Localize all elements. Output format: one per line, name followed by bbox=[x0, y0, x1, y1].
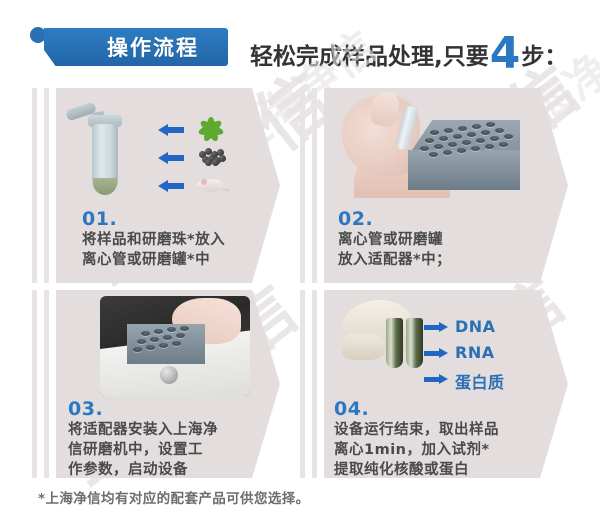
panel-bar bbox=[32, 88, 37, 283]
output-label-dna: DNA bbox=[455, 317, 496, 336]
arrow-right-icon bbox=[424, 322, 448, 332]
ribbon-label: 操作流程 bbox=[78, 28, 228, 66]
step-panel-1[interactable]: 01. 将样品和研磨珠*放入 离心管或研磨罐*中 bbox=[32, 88, 280, 283]
step-panel-2[interactable]: 02. 离心管或研磨罐 放入适配器*中； bbox=[300, 88, 568, 283]
panel-bar bbox=[32, 290, 37, 478]
steps-grid: 01. 将样品和研磨珠*放入 离心管或研磨罐*中 bbox=[0, 88, 600, 478]
step-text: 将样品和研磨珠*放入 离心管或研磨罐*中 bbox=[82, 230, 262, 270]
footer-note: *上海净信均有对应的配套产品可供您选择。 bbox=[38, 487, 310, 507]
sample-tube bbox=[386, 318, 403, 368]
step-number: 01. bbox=[82, 208, 117, 230]
step-text: 将适配器安装入上海净 信研磨机中，设置工 作参数，启动设备 bbox=[68, 420, 264, 480]
output-label-protein: 蛋白质 bbox=[455, 369, 505, 393]
glove-thumb-shape bbox=[342, 334, 386, 360]
panel-bar bbox=[44, 290, 49, 478]
page-header: 操作流程 轻松完成样品处理,只要 4 步： bbox=[0, 0, 600, 86]
panel-side-bars bbox=[300, 88, 324, 283]
page-title: 轻松完成样品处理,只要 4 步： bbox=[250, 28, 567, 70]
arrow-right-icon bbox=[424, 374, 448, 384]
page-title-number: 4 bbox=[490, 32, 521, 76]
machine-knob bbox=[160, 366, 178, 384]
panel-bar bbox=[44, 88, 49, 283]
page-title-prefix: 轻松完成样品处理,只要 bbox=[250, 37, 489, 71]
centrifuge-tube-icon bbox=[78, 100, 138, 204]
sample-tube bbox=[406, 318, 423, 368]
panel-bar bbox=[312, 88, 317, 283]
step-panel-3[interactable]: 03. 将适配器安装入上海净 信研磨机中，设置工 作参数，启动设备 bbox=[32, 290, 280, 478]
page-title-suffix: 步： bbox=[521, 37, 567, 71]
leaf-sample-icon bbox=[198, 116, 224, 142]
panel-side-bars bbox=[32, 290, 56, 478]
panel-bar bbox=[300, 290, 305, 478]
grinder-machine-photo bbox=[100, 296, 250, 396]
tube-liquid bbox=[93, 178, 117, 195]
step-text: 设备运行结束，取出样品 离心1min，加入试剂* 提取纯化核酸或蛋白 bbox=[334, 420, 558, 480]
step-text: 离心管或研磨罐 放入适配器*中； bbox=[338, 230, 538, 270]
block-front-face bbox=[408, 150, 520, 190]
arrow-left-icon bbox=[158, 180, 184, 192]
ribbon-banner: 操作流程 bbox=[44, 28, 228, 66]
hand-with-adapter-photo bbox=[336, 92, 526, 204]
panel-bar bbox=[312, 290, 317, 478]
step-panel-4[interactable]: DNA RNA 蛋白质 04. 设备运行结束，取出样品 离心1min，加入试剂*… bbox=[300, 290, 568, 478]
panel-bar bbox=[300, 88, 305, 283]
step-number: 02. bbox=[338, 208, 373, 230]
step-number: 03. bbox=[68, 398, 103, 420]
output-label-rna: RNA bbox=[455, 343, 495, 362]
adapter-block-icon bbox=[408, 120, 520, 190]
infographic-page: 操作流程 轻松完成样品处理,只要 4 步： 上海净信 上海净信 上海净信 上海净… bbox=[0, 0, 600, 526]
panel-side-bars bbox=[300, 290, 324, 478]
mouse-sample-icon bbox=[196, 176, 226, 194]
arrow-left-icon bbox=[158, 124, 184, 136]
step-number: 04. bbox=[334, 398, 369, 420]
panel-side-bars bbox=[32, 88, 56, 283]
arrow-right-icon bbox=[424, 348, 448, 358]
arrow-left-icon bbox=[158, 152, 184, 164]
adapter-block-icon bbox=[127, 324, 205, 364]
beads-sample-icon bbox=[198, 147, 226, 165]
